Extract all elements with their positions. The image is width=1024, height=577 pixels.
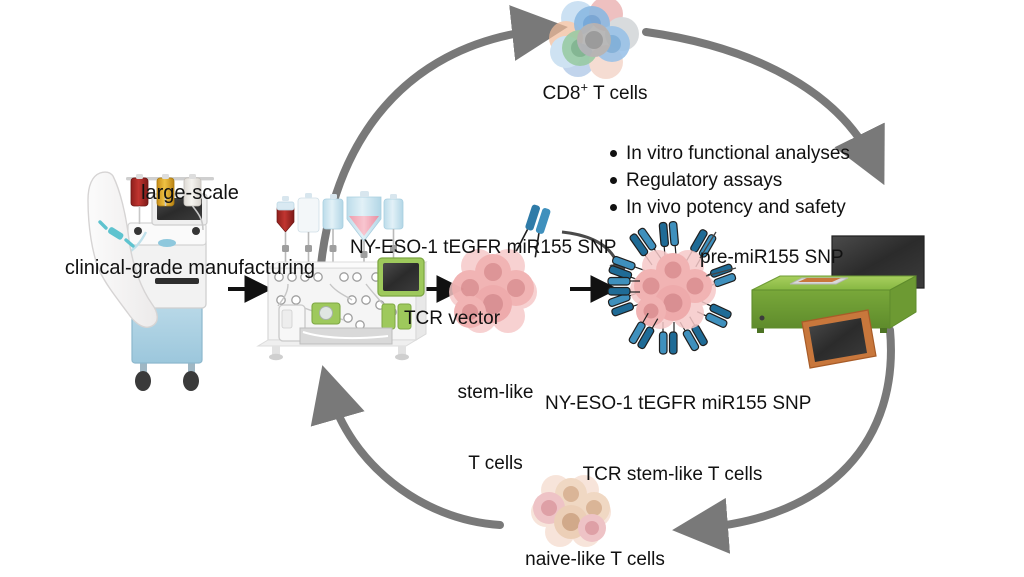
analyses-item-label: Regulatory assays [626, 168, 782, 195]
analyses-item-label: In vivo potency and safety [626, 195, 846, 222]
analyses-item: In vitro functional analyses [610, 141, 880, 168]
bullet-icon [610, 177, 617, 184]
naive-like-t-cells-label: naive-like T cells [515, 548, 675, 572]
cd8-t-cells-label: CD8+ T cells [490, 82, 700, 106]
tcr-vector-label-line2: TCR vector [350, 307, 600, 331]
machine-wheels-icon [135, 360, 199, 391]
transduced-t-cell-cluster-icon [608, 221, 737, 354]
cd8-label-prefix: CD8 [542, 83, 580, 104]
analyses-item: In vivo potency and safety [610, 195, 880, 222]
product-label-line2: TCR stem-like T cells [545, 463, 800, 487]
manufacturing-label-line1: large-scale [60, 181, 320, 206]
analyses-list: In vitro functional analyses Regulatory … [610, 141, 880, 222]
cd8-t-cell-cluster-icon [549, 0, 639, 79]
analyses-item: Regulatory assays [610, 168, 880, 195]
figure-canvas: large-scale clinical-grade manufacturing… [0, 0, 1024, 577]
product-label-line1: NY-ESO-1 tEGFR miR155 SNP [545, 392, 800, 416]
bullet-icon [610, 150, 617, 157]
bullet-icon [610, 204, 617, 211]
analyses-item-label: In vitro functional analyses [626, 141, 850, 168]
tcr-vector-label-line1: NY-ESO-1 tEGFR miR155 SNP [350, 236, 600, 260]
stem-like-t-cells-label: stem-like T cells [433, 333, 558, 523]
pre-mir155-label: pre-miR155 SNP [700, 246, 870, 270]
cd8-label-superscript: + [580, 80, 588, 95]
stem-like-label-line1: stem-like [433, 381, 558, 405]
stem-like-label-line2: T cells [433, 452, 558, 476]
cd8-label-suffix: T cells [588, 83, 648, 104]
manufacturing-label-line2: clinical-grade manufacturing [60, 256, 320, 281]
manufacturing-label: large-scale clinical-grade manufacturing [60, 131, 320, 331]
product-label: NY-ESO-1 tEGFR miR155 SNP TCR stem-like … [545, 344, 800, 534]
